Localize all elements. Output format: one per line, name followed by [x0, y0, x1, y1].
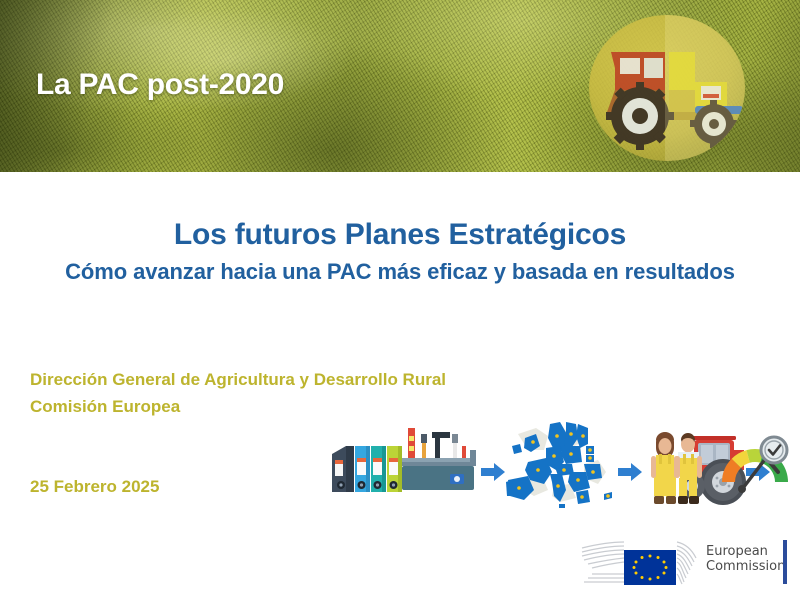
page-subtitle: Cómo avanzar hacia una PAC más eficaz y …: [0, 258, 800, 286]
title-block: Los futuros Planes Estratégicos Cómo ava…: [0, 218, 800, 286]
performance-gauge: [716, 430, 794, 502]
spirit-level: [408, 428, 415, 458]
gauge-hub: [738, 485, 746, 493]
binder-green: [387, 446, 402, 492]
toolbox: [402, 428, 476, 490]
binder-blue: [355, 446, 370, 492]
logo-wave-right: [677, 542, 696, 584]
slide-header-band: La PAC post-2020: [0, 0, 800, 172]
slide-kicker-title: La PAC post-2020: [36, 68, 284, 102]
logo-wave-left-lower: [584, 574, 624, 582]
farmer-woman: [651, 432, 679, 504]
ec-logo-vertical-rule: [783, 540, 787, 584]
binder-dark: [332, 446, 354, 492]
screwdriver-orange: [422, 442, 426, 460]
organisation-block: Dirección General de Agricultura y Desar…: [30, 366, 446, 420]
process-arrow-1: [481, 463, 505, 481]
process-arrow-2: [618, 463, 642, 481]
european-commission-logo: European Commission: [578, 534, 790, 594]
ec-logo-wordmark: European Commission: [706, 544, 785, 574]
logo-wave-left: [582, 542, 624, 568]
tractor-emblem: [577, 8, 757, 171]
screwdriver-grey: [453, 442, 457, 460]
ec-logo-line-1: European: [706, 544, 785, 559]
stage-binders-toolbox: [332, 428, 476, 492]
binder-teal: [371, 446, 386, 492]
hammer: [432, 432, 450, 460]
organisation-line-2: Comisión Europea: [30, 393, 446, 420]
ec-logo-line-2: Commission: [706, 559, 785, 574]
organisation-line-1: Dirección General de Agricultura y Desar…: [30, 366, 446, 393]
slide-date: 25 Febrero 2025: [30, 477, 159, 497]
stage-eu-map: [506, 422, 612, 508]
presentation-slide: La PAC post-2020: [0, 0, 800, 600]
page-title: Los futuros Planes Estratégicos: [0, 218, 800, 252]
